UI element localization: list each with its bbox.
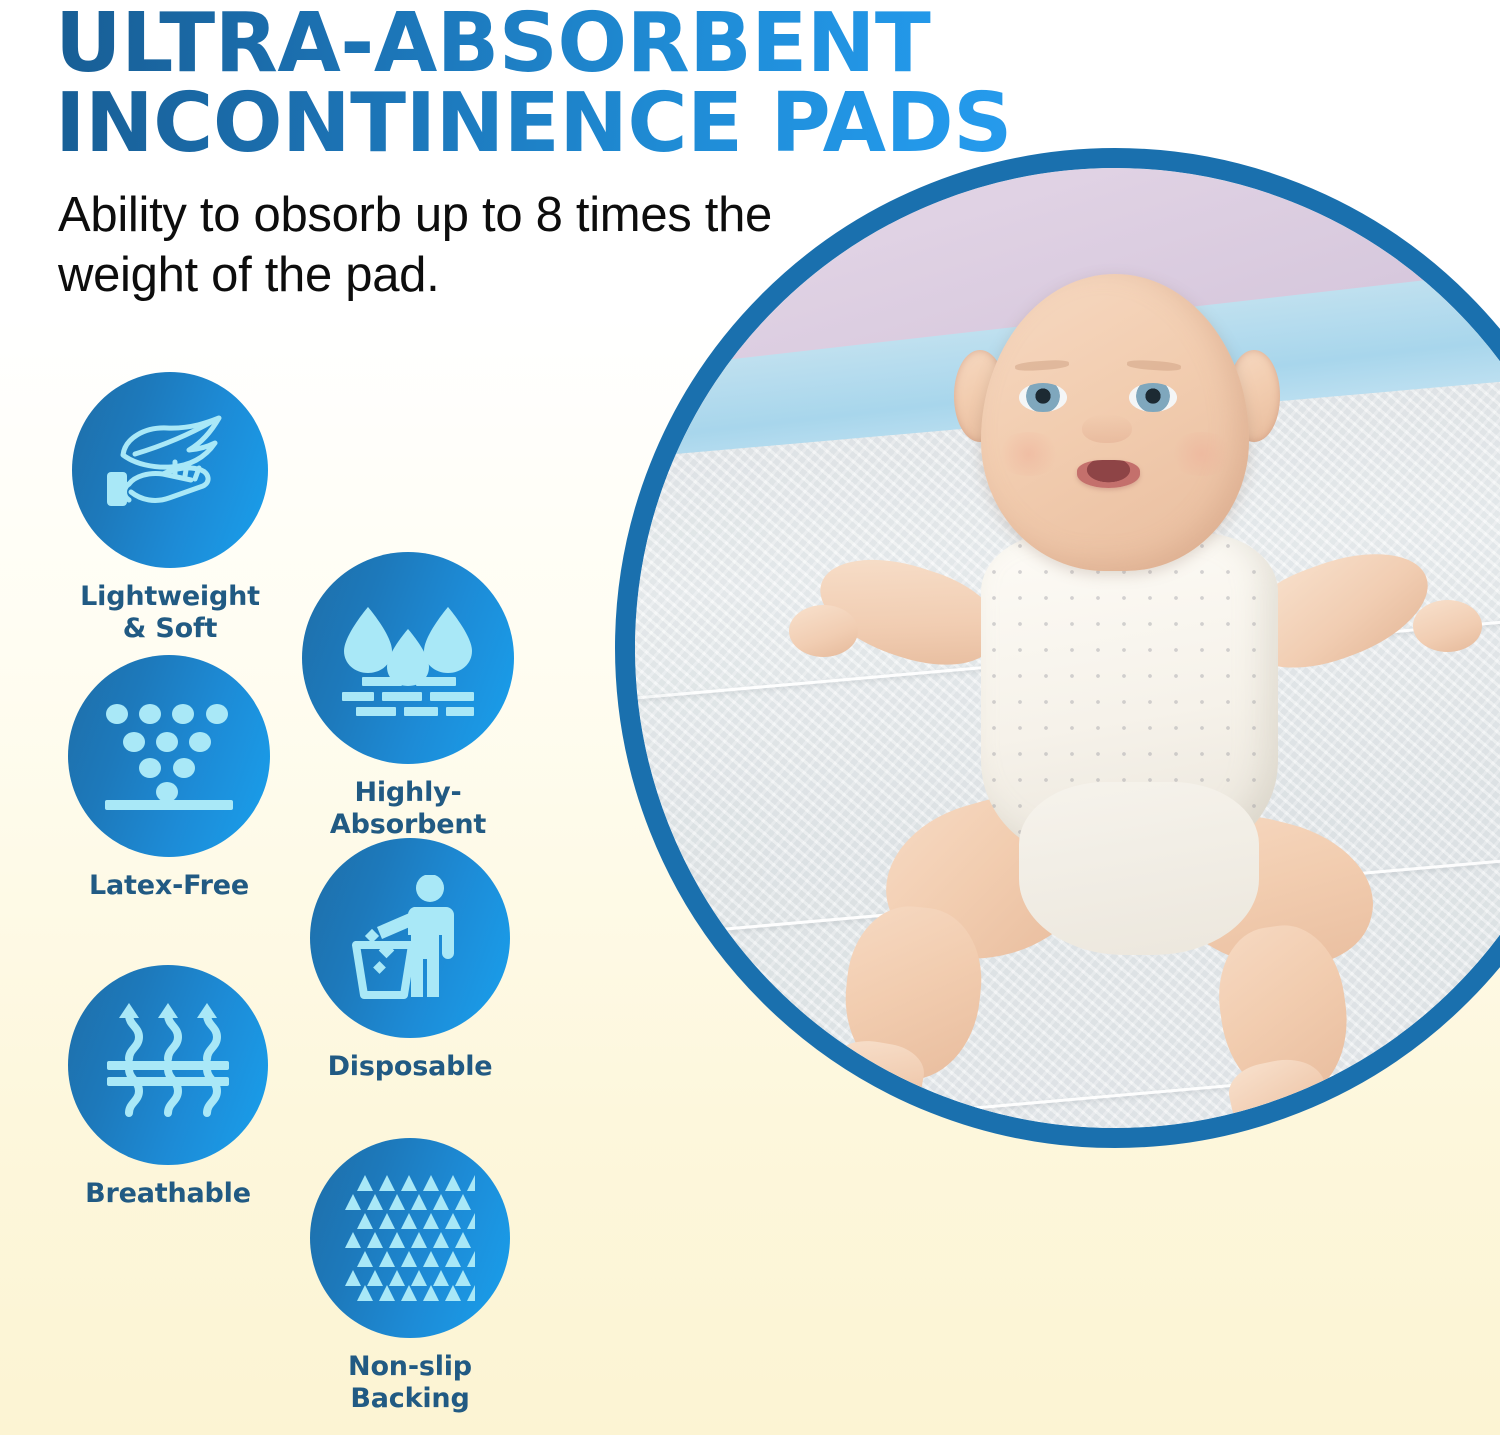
feature-label: Disposable — [310, 1051, 510, 1083]
feature-badge — [72, 372, 268, 568]
page-title: ULTRA-ABSORBENT INCONTINENCE PADS — [55, 4, 1165, 163]
baby-mouth — [1077, 460, 1140, 488]
triangle-grid-icon — [345, 1175, 475, 1301]
photo-inner — [635, 168, 1500, 1128]
feature-badge — [302, 552, 514, 764]
baby-diaper — [1019, 782, 1259, 955]
feature-label: Lightweight & Soft — [72, 581, 268, 645]
baby-right-cheek — [1168, 432, 1235, 476]
feature-breathable: Breathable — [68, 965, 268, 1210]
feature-disposable: Disposable — [310, 838, 510, 1083]
baby-left-eye — [1019, 383, 1067, 412]
baby-right-hand — [1413, 600, 1482, 652]
feature-label: Latex-Free — [68, 870, 270, 902]
hand-feather-icon — [105, 410, 235, 530]
dots-barrier-icon — [105, 702, 233, 810]
trash-bin-person-icon — [351, 875, 469, 1001]
airflow-arrows-icon — [107, 1001, 229, 1129]
baby-photo-subject — [635, 168, 1500, 1128]
feature-badge — [310, 838, 510, 1038]
page-subtitle: Ability to obsorb up to 8 times the weig… — [58, 186, 858, 306]
feature-non-slip-backing: Non-slip Backing — [310, 1138, 510, 1415]
feature-badge — [310, 1138, 510, 1338]
feature-badge — [68, 965, 268, 1165]
product-infographic: ULTRA-ABSORBENT INCONTINENCE PADS Abilit… — [0, 0, 1500, 1435]
feature-label: Non-slip Backing — [310, 1351, 510, 1415]
feature-highly-absorbent: Highly-Absorbent — [302, 552, 514, 841]
water-drops-icon — [342, 599, 474, 717]
baby-right-eye — [1129, 383, 1177, 412]
feature-label: Breathable — [68, 1178, 268, 1210]
feature-latex-free: Latex-Free — [68, 655, 270, 902]
feature-label: Highly-Absorbent — [302, 777, 514, 841]
baby-nose — [1082, 414, 1132, 443]
baby-left-cheek — [995, 432, 1062, 476]
baby-left-hand — [789, 605, 858, 657]
feature-badge — [68, 655, 270, 857]
feature-lightweight-soft: Lightweight & Soft — [72, 372, 268, 645]
